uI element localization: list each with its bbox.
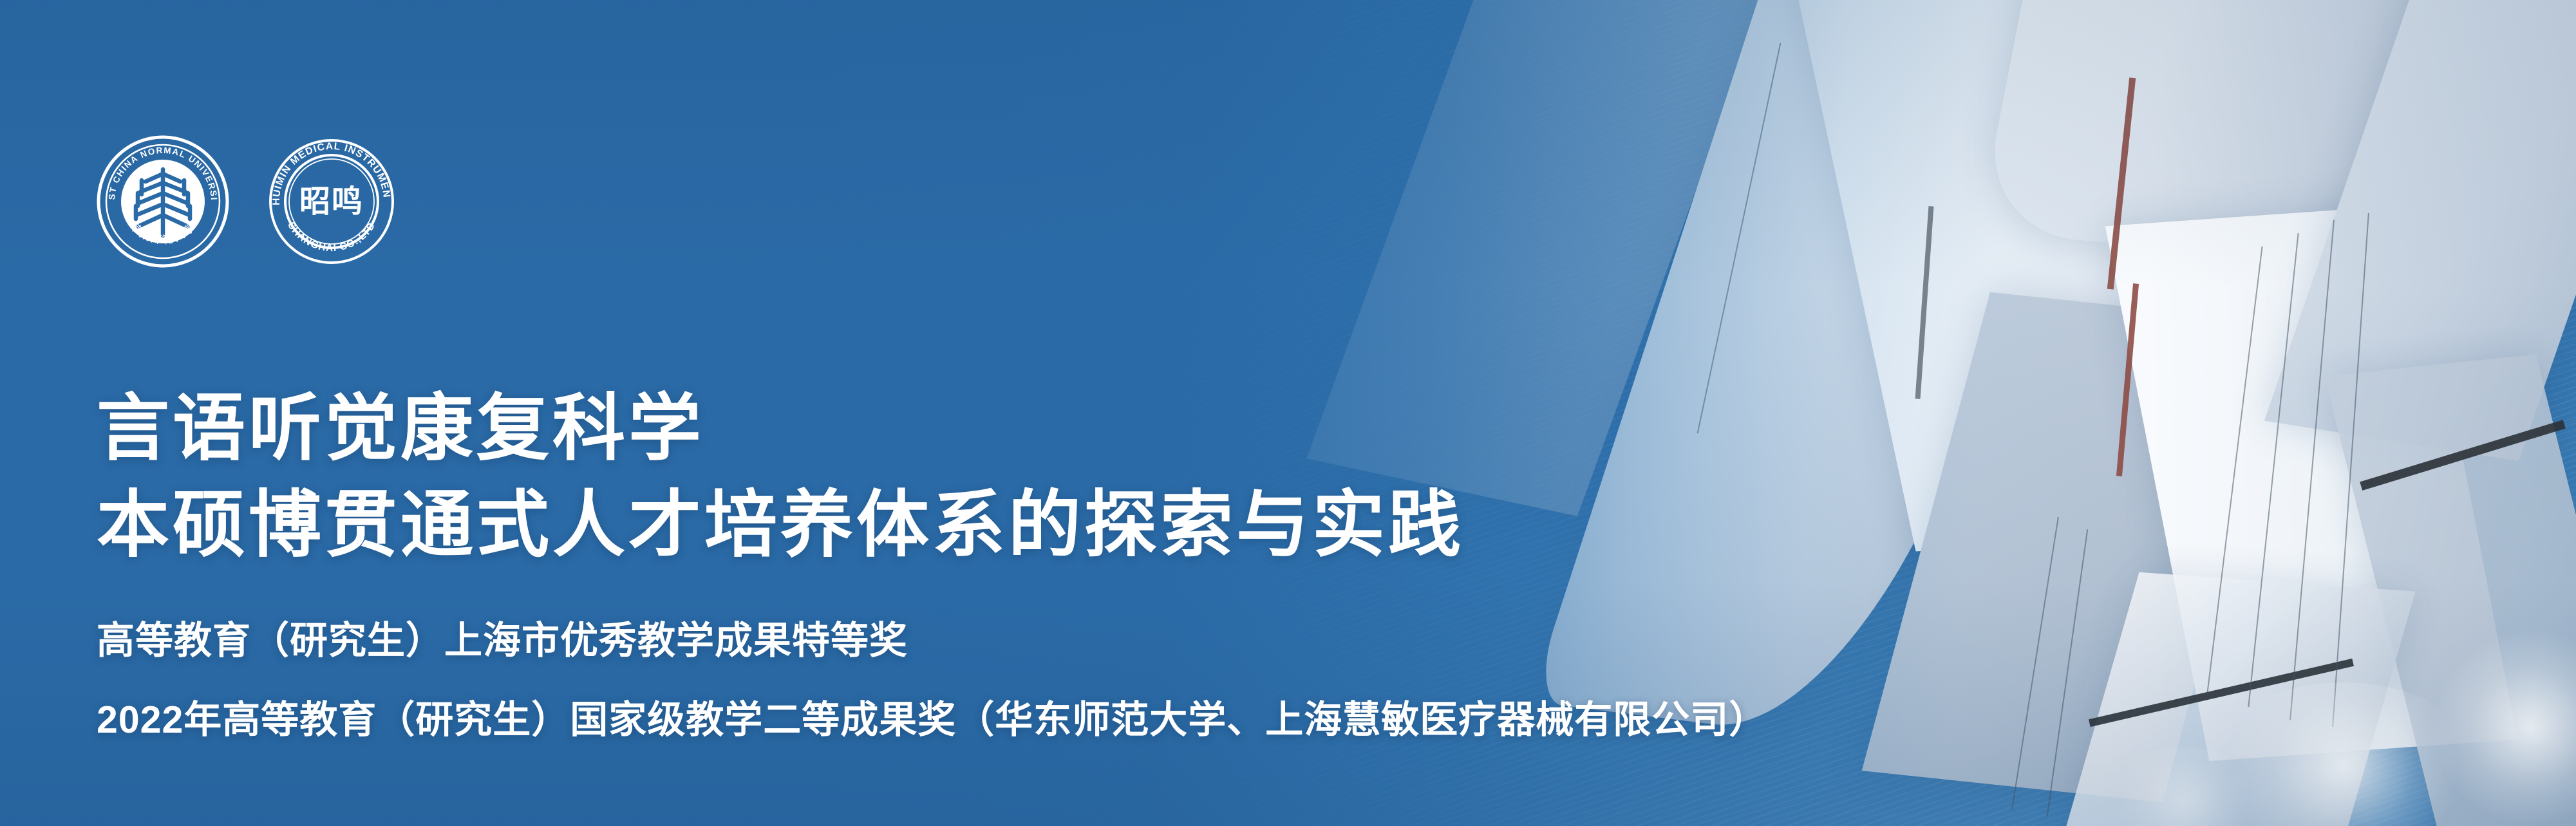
svg-text:昭鸣: 昭鸣 [299, 183, 364, 220]
shanghai-huimin-medical-instrument-seal-icon: HUIMIN MEDICAL INSTRUMENT SHANGHAI CO.,L… [268, 138, 395, 265]
east-china-normal-university-seal-icon: EAST CHINA NORMAL UNIVERSITY 華東師範大學 [95, 134, 230, 269]
subtitle-award-national: 2022年高等教育（研究生）国家级教学二等成果奖（华东师范大学、上海慧敏医疗器械… [97, 689, 1835, 744]
page-title-line-1: 言语听觉康复科学 [97, 380, 1835, 476]
title-block: 言语听觉康复科学 本硕博贯通式人才培养体系的探索与实践 高等教育（研究生）上海市… [97, 380, 1835, 744]
page-title-line-2: 本硕博贯通式人才培养体系的探索与实践 [97, 476, 1835, 573]
subtitle-award-municipal: 高等教育（研究生）上海市优秀教学成果特等奖 [97, 610, 1835, 664]
svg-text:SHANGHAI CO.,LTD: SHANGHAI CO.,LTD [285, 220, 378, 254]
promotional-banner: EAST CHINA NORMAL UNIVERSITY 華東師範大學 HUIM… [0, 0, 2576, 826]
banner-content: EAST CHINA NORMAL UNIVERSITY 華東師範大學 HUIM… [0, 0, 2576, 826]
logo-row: EAST CHINA NORMAL UNIVERSITY 華東師範大學 HUIM… [95, 134, 395, 269]
